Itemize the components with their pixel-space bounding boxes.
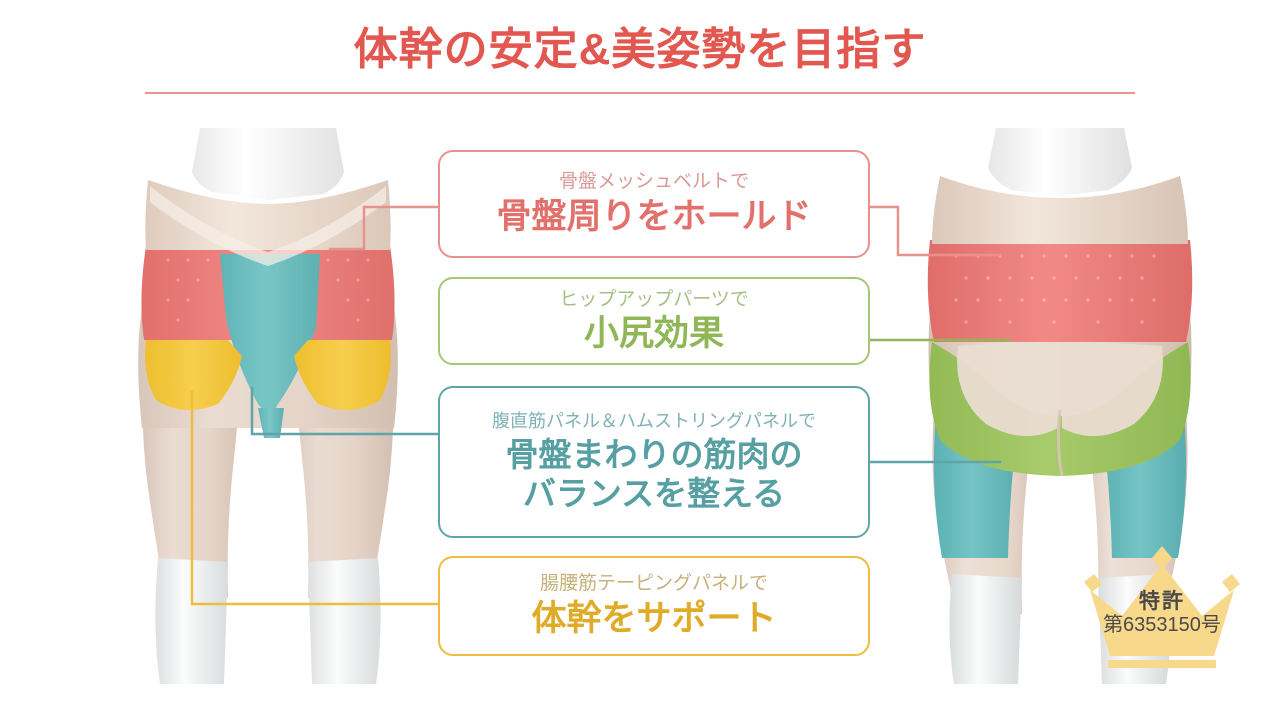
callout-hip-up-parts[interactable]: ヒップアップパーツで 小尻効果 (438, 277, 870, 365)
callout-1-subtitle: 骨盤メッシュベルトで (559, 170, 749, 194)
patent-text-block: 特許 第6353150号 (1062, 590, 1262, 637)
callout-muscle-balance[interactable]: 腹直筋パネル＆ハムストリングパネルで 骨盤まわりの筋肉の バランスを整える (438, 386, 870, 538)
patent-label: 特許 (1062, 590, 1262, 613)
title-divider (145, 92, 1135, 94)
callout-iliopsoas-taping[interactable]: 腸腰筋テーピングパネルで 体幹をサポート (438, 556, 870, 656)
callout-pelvic-mesh-belt[interactable]: 骨盤メッシュベルトで 骨盤周りをホールド (438, 150, 870, 258)
callout-4-headline: 体幹をサポート (531, 598, 776, 639)
callout-1-headline: 骨盤周りをホールド (496, 196, 811, 237)
callout-2-headline: 小尻効果 (584, 313, 724, 354)
callout-4-subtitle: 腸腰筋テーピングパネルで (540, 572, 768, 596)
callout-3-headline-1: 骨盤まわりの筋肉の (506, 436, 803, 475)
callout-3-headline-2: バランスを整える (523, 475, 785, 514)
infographic-canvas: 体幹の安定&美姿勢を目指す (0, 0, 1280, 720)
mannequin-front-view (108, 128, 428, 688)
page-title: 体幹の安定&美姿勢を目指す (0, 26, 1280, 74)
patent-number: 第6353150号 (1062, 613, 1262, 637)
callout-2-subtitle: ヒップアップパーツで (559, 288, 749, 312)
callout-3-subtitle: 腹直筋パネル＆ハムストリングパネルで (492, 410, 816, 433)
patent-badge: 特許 第6353150号 (1062, 538, 1262, 668)
title-block: 体幹の安定&美姿勢を目指す (0, 26, 1280, 74)
